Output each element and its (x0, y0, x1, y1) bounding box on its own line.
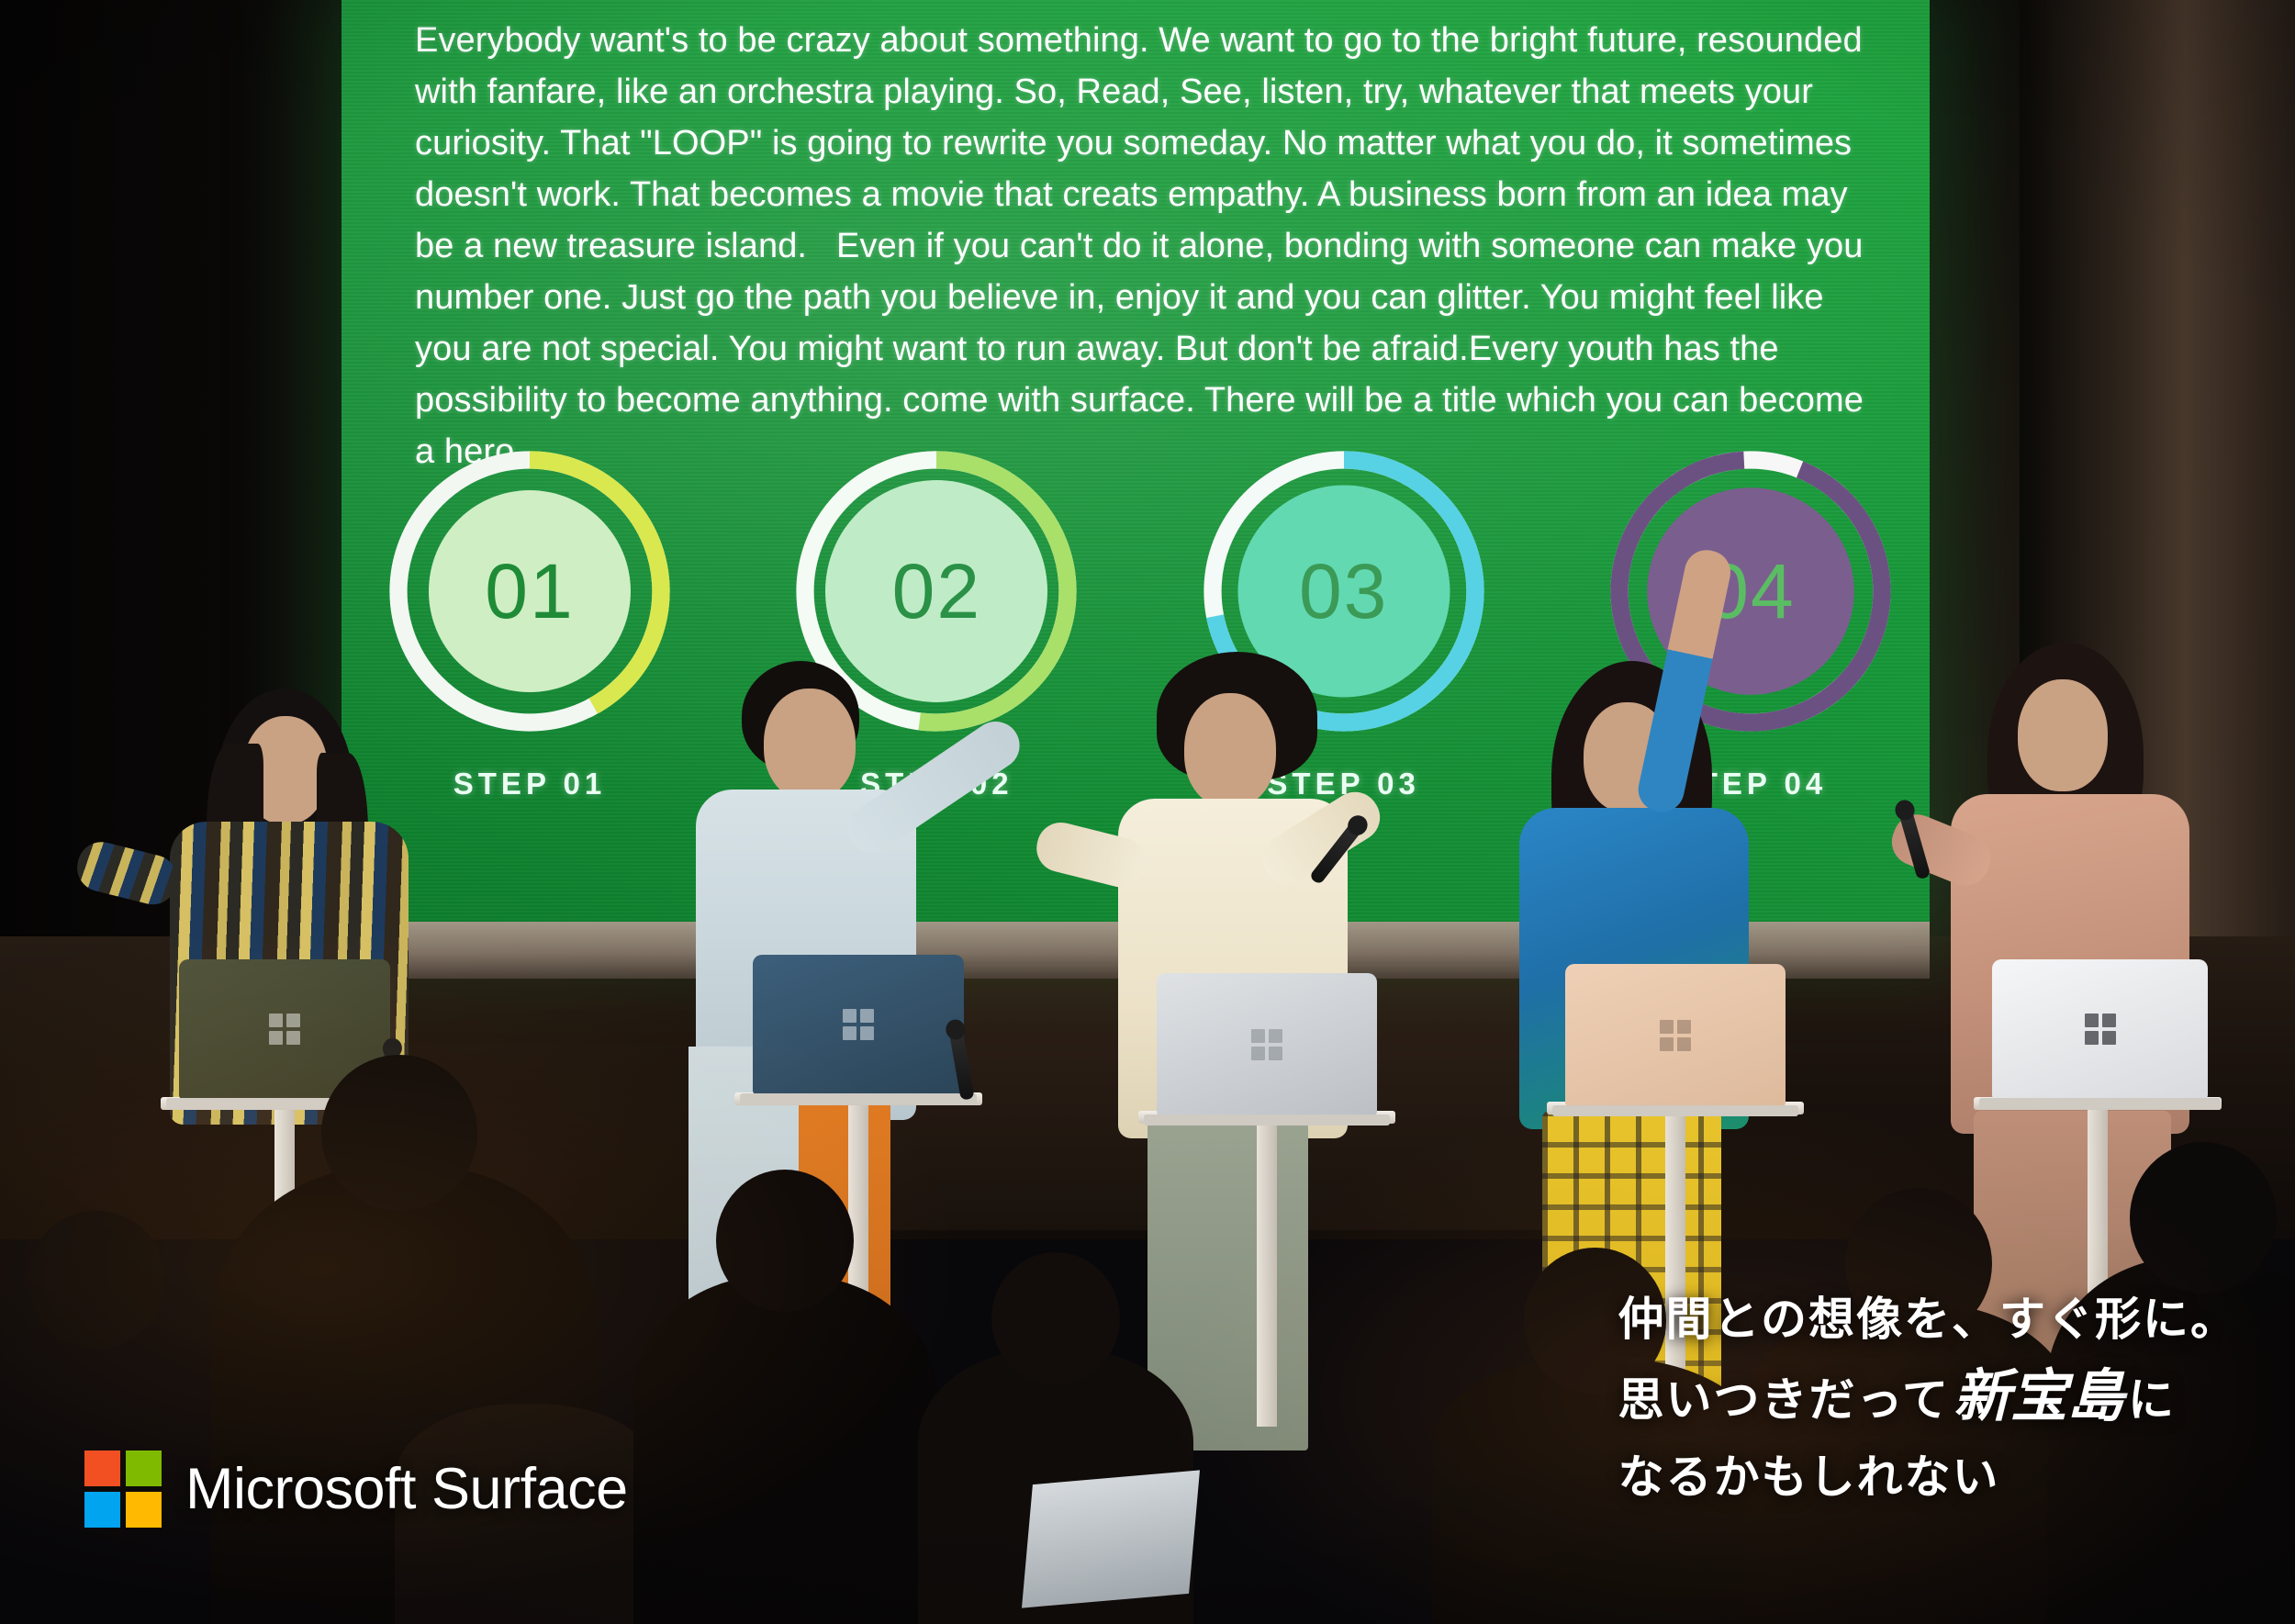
audience-member-head (991, 1252, 1120, 1385)
audience-member-head (2130, 1142, 2277, 1294)
logo-square-red (84, 1450, 120, 1486)
microsoft-logo-icon (843, 1009, 874, 1040)
slide-body-text: Everybody want's to be crazy about somet… (415, 15, 1865, 477)
logo-square-yellow (126, 1492, 162, 1528)
surface-event-poster: Everybody want's to be crazy about somet… (0, 0, 2295, 1624)
presenter-5-head (2018, 679, 2108, 791)
audience-member-head (28, 1211, 165, 1349)
brand-lockup: Microsoft Surface (84, 1450, 628, 1528)
audience-device-screen (1022, 1470, 1200, 1607)
microsoft-logo-icon (84, 1450, 162, 1528)
logo-square-blue (84, 1492, 120, 1528)
audience-member-head (716, 1170, 854, 1312)
presenter-1-arm-left (73, 837, 183, 910)
tagline-line-3: なるかもしれない (1618, 1439, 2239, 1516)
logo-square-green (126, 1450, 162, 1486)
brand-name: Microsoft Surface (185, 1456, 628, 1522)
presenter-2-head (764, 689, 856, 801)
microsoft-logo-icon (269, 1014, 300, 1045)
tagline-line-1: 仲間との想像を、すぐ形に。 (1618, 1281, 2239, 1358)
tagline-line-2-suffix: に (2128, 1373, 2176, 1427)
audience-member (633, 1275, 936, 1624)
tagline-line-2: 思いつきだって新宝島に (1618, 1358, 2239, 1439)
audience-member-head (321, 1055, 477, 1211)
tagline-emphasis-title: 新宝島 (1950, 1362, 2128, 1429)
campaign-tagline: 仲間との想像を、すぐ形に。 思いつきだって新宝島に なるかもしれない (1618, 1281, 2239, 1516)
microsoft-logo-icon (2085, 1014, 2116, 1045)
tagline-line-2-prefix: 思いつきだって (1618, 1373, 1951, 1427)
presenter-3-head (1184, 693, 1276, 808)
presenter-2-arm-pointing (838, 712, 1028, 862)
microsoft-logo-icon (1660, 1020, 1691, 1051)
